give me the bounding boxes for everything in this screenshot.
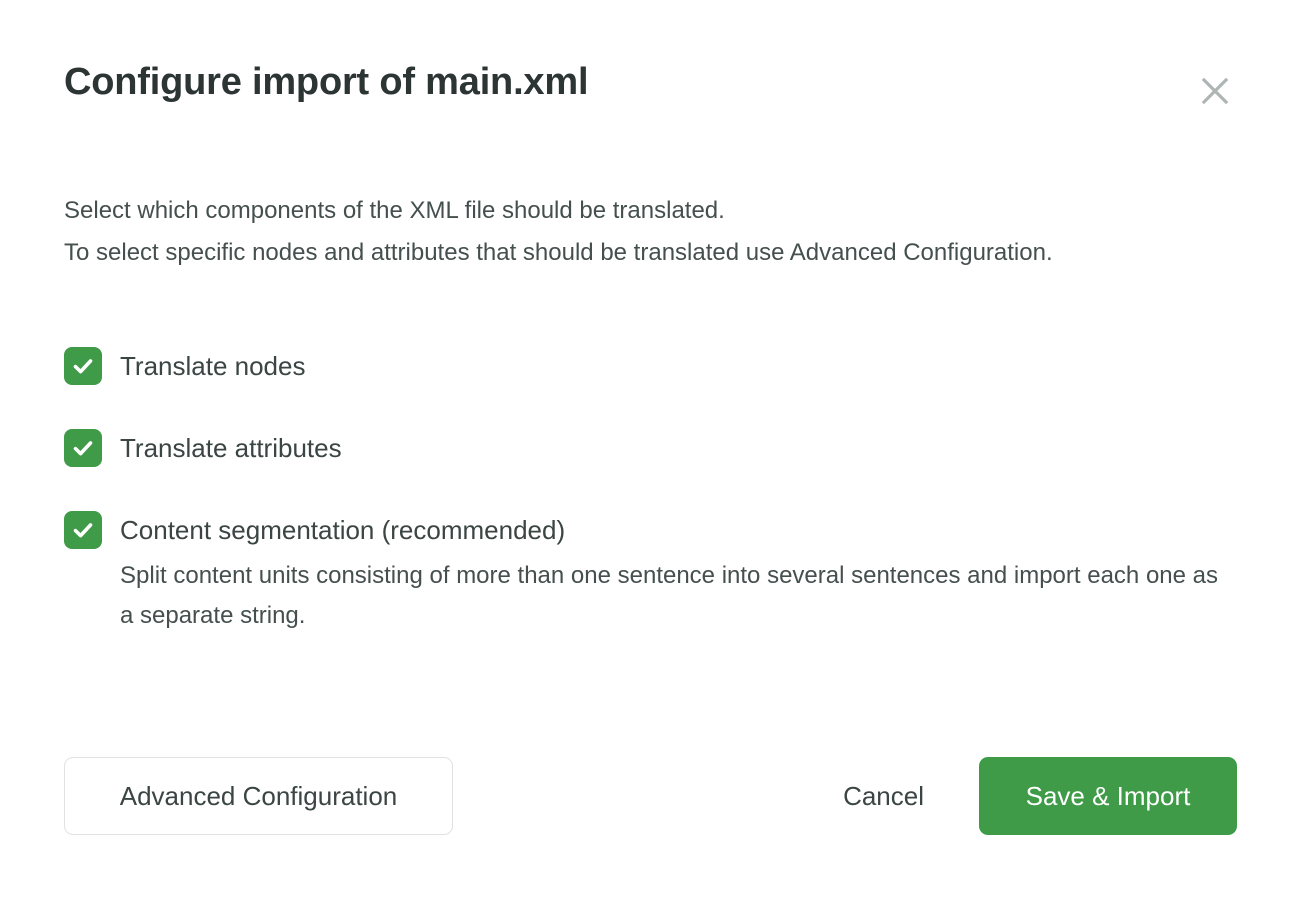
option-content-segmentation: Content segmentation (recommended) Split… <box>64 510 1224 636</box>
description-line-1: Select which components of the XML file … <box>64 190 1089 232</box>
cancel-button[interactable]: Cancel <box>815 757 952 835</box>
options-list: Translate nodes Translate attributes Con… <box>64 346 1224 636</box>
advanced-configuration-button[interactable]: Advanced Configuration <box>64 757 453 835</box>
dialog-header: Configure import of main.xml <box>64 62 1236 132</box>
checkbox-translate-attributes[interactable] <box>64 429 102 467</box>
save-and-import-button[interactable]: Save & Import <box>979 757 1237 835</box>
option-label-translate-nodes[interactable]: Translate nodes <box>120 346 1224 386</box>
option-translate-nodes: Translate nodes <box>64 346 1224 386</box>
dialog-title: Configure import of main.xml <box>64 62 1236 104</box>
dialog-footer: Advanced Configuration Cancel Save & Imp… <box>64 757 1237 835</box>
option-text-content-segmentation: Content segmentation (recommended) Split… <box>120 510 1224 636</box>
checkbox-translate-nodes[interactable] <box>64 347 102 385</box>
option-label-translate-attributes[interactable]: Translate attributes <box>120 428 1224 468</box>
dialog-description: Select which components of the XML file … <box>64 190 1089 274</box>
option-text-translate-attributes: Translate attributes <box>120 428 1224 468</box>
description-line-2: To select specific nodes and attributes … <box>64 232 1089 274</box>
configure-import-dialog: Configure import of main.xml Select whic… <box>0 0 1300 900</box>
option-text-translate-nodes: Translate nodes <box>120 346 1224 386</box>
option-help-content-segmentation: Split content units consisting of more t… <box>120 556 1220 636</box>
option-label-content-segmentation[interactable]: Content segmentation (recommended) <box>120 510 1224 550</box>
close-icon[interactable] <box>1194 70 1236 112</box>
footer-actions: Cancel Save & Import <box>815 757 1237 835</box>
checkbox-content-segmentation[interactable] <box>64 511 102 549</box>
option-translate-attributes: Translate attributes <box>64 428 1224 468</box>
